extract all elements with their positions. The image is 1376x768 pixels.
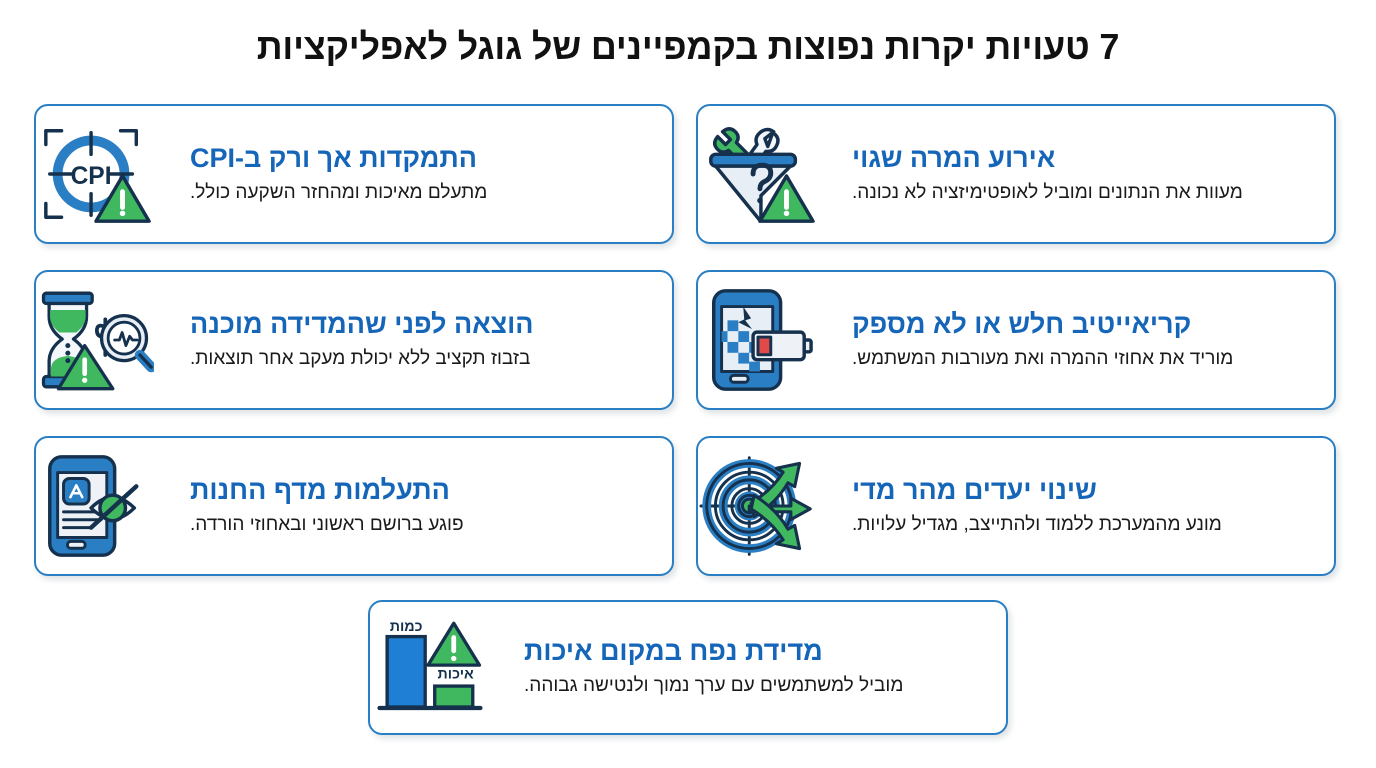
card-weak-creative[interactable]: קריאייטיב חלש או לא מספק מוריד את אחוזי … — [696, 270, 1336, 410]
card-heading: התעלמות מדף החנות — [190, 475, 666, 507]
hourglass-dollar-magnifier-warning-icon — [36, 280, 168, 400]
card-heading: שינוי יעדים מהר מדי — [852, 475, 1328, 507]
card-text: התמקדות אך ורק ב-CPI מתעלם מאיכות ומהחזר… — [168, 143, 672, 206]
card-text: שינוי יעדים מהר מדי מונע מהמערכת ללמוד ו… — [830, 475, 1334, 538]
card-volume-over-quality[interactable]: כמות איכות מדידת נפח במקום איכות מוביל ל… — [368, 600, 1008, 735]
card-description: מונע מהמערכת ללמוד ולהתייצב, מגדיל עלויו… — [852, 513, 1328, 538]
card-heading: הוצאה לפני שהמדידה מוכנה — [190, 309, 666, 341]
cards-grid: אירוע המרה שגוי מעוות את הנתונים ומוביל … — [0, 104, 1376, 604]
card-description: מתעלם מאיכות ומהחזר השקעה כולל. — [190, 181, 666, 206]
store-page-eye-off-icon — [36, 446, 168, 566]
card-description: מוביל למשתמשים עם ערך נמוך ולנטישה גבוהה… — [524, 674, 1000, 699]
card-text: אירוע המרה שגוי מעוות את הנתונים ומוביל … — [830, 143, 1334, 206]
card-text: התעלמות מדף החנות פוגע ברושם ראשוני ובאח… — [168, 475, 672, 538]
cpi-target-warning-icon: CPI — [36, 114, 168, 234]
phone-low-battery-glitch-icon — [698, 280, 830, 400]
card-description: פוגע ברושם ראשוני ובאחוזי הורדה. — [190, 513, 666, 538]
infographic-page: 7 טעויות יקרות נפוצות בקמפיינים של גוגל … — [0, 0, 1376, 768]
card-text: קריאייטיב חלש או לא מספק מוריד את אחוזי … — [830, 309, 1334, 372]
card-text: הוצאה לפני שהמדידה מוכנה בזבוז תקציב ללא… — [168, 309, 672, 372]
target-arrows-icon — [698, 446, 830, 566]
card-spend-before-measurement[interactable]: הוצאה לפני שהמדידה מוכנה בזבוז תקציב ללא… — [34, 270, 674, 410]
bar-label-quantity: כמות — [390, 618, 423, 634]
bar-chart-quantity-quality-warning-icon: כמות איכות — [370, 608, 502, 728]
bar-label-quality: איכות — [438, 666, 474, 682]
card-heading: התמקדות אך ורק ב-CPI — [190, 143, 666, 175]
card-heading: קריאייטיב חלש או לא מספק — [852, 309, 1328, 341]
card-description: מוריד את אחוזי ההמרה ואת מעורבות המשתמש. — [852, 347, 1328, 372]
page-title: 7 טעויות יקרות נפוצות בקמפיינים של גוגל … — [0, 24, 1376, 70]
card-ignoring-store-page[interactable]: התעלמות מדף החנות פוגע ברושם ראשוני ובאח… — [34, 436, 674, 576]
card-description: בזבוז תקציב ללא יכולת מעקב אחר תוצאות. — [190, 347, 666, 372]
card-text: מדידת נפח במקום איכות מוביל למשתמשים עם … — [502, 636, 1006, 699]
funnel-wrench-warning-icon — [698, 114, 830, 234]
card-description: מעוות את הנתונים ומוביל לאופטימיזציה לא … — [852, 181, 1328, 206]
svg-text:CPI: CPI — [71, 163, 112, 190]
card-wrong-conversion-event[interactable]: אירוע המרה שגוי מעוות את הנתונים ומוביל … — [696, 104, 1336, 244]
card-cpi-only-focus[interactable]: CPI התמקדות אך ורק ב-CPI מתעלם מאיכות ומ… — [34, 104, 674, 244]
card-heading: אירוע המרה שגוי — [852, 143, 1328, 175]
card-heading: מדידת נפח במקום איכות — [524, 636, 1000, 668]
card-changing-goals-too-fast[interactable]: שינוי יעדים מהר מדי מונע מהמערכת ללמוד ו… — [696, 436, 1336, 576]
